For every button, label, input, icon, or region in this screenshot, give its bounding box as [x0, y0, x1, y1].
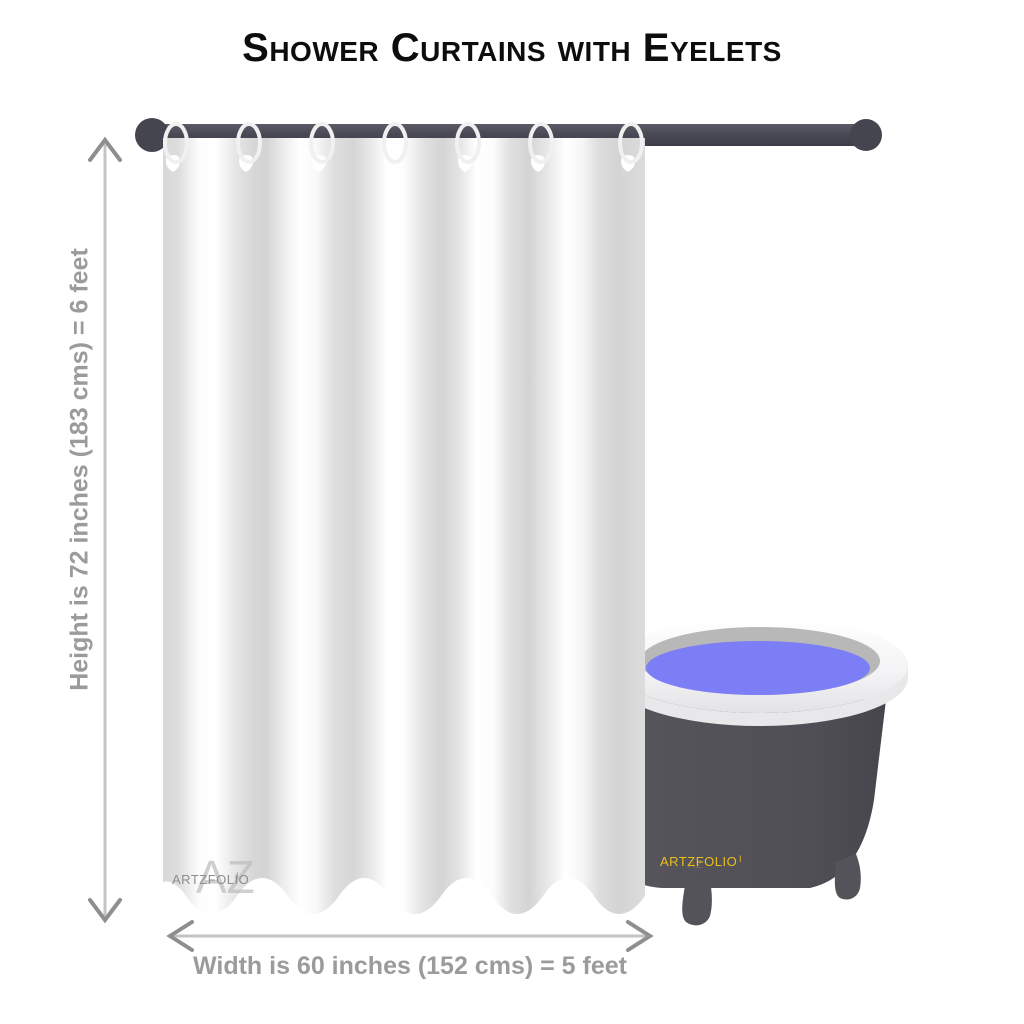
- bathtub-water: [646, 641, 870, 695]
- curtain-panel: [163, 138, 645, 928]
- curtain-watermark-suffix: I: [236, 871, 239, 881]
- infographic-canvas: Shower Curtains with Eyelets: [0, 0, 1024, 1024]
- rod-finial-right: [850, 119, 882, 151]
- bathtub-watermark-text: ARTZFOLIO: [660, 854, 737, 869]
- bathtub-foot-left: [682, 880, 712, 925]
- width-dimension-arrow: [160, 918, 660, 954]
- height-dimension-label: Height is 72 inches (183 cms) = 6 feet: [66, 80, 95, 860]
- bathtub: AZ ARTZFOLIO I: [612, 617, 908, 925]
- bathtub-watermark-suffix: I: [739, 854, 742, 864]
- product-scene: AZ ARTZFOLIO I: [0, 0, 1024, 1024]
- width-dimension-label: Width is 60 inches (152 cms) = 5 feet: [0, 952, 820, 981]
- shower-curtain: [163, 138, 645, 928]
- bathtub-watermark: AZ ARTZFOLIO I: [660, 854, 742, 871]
